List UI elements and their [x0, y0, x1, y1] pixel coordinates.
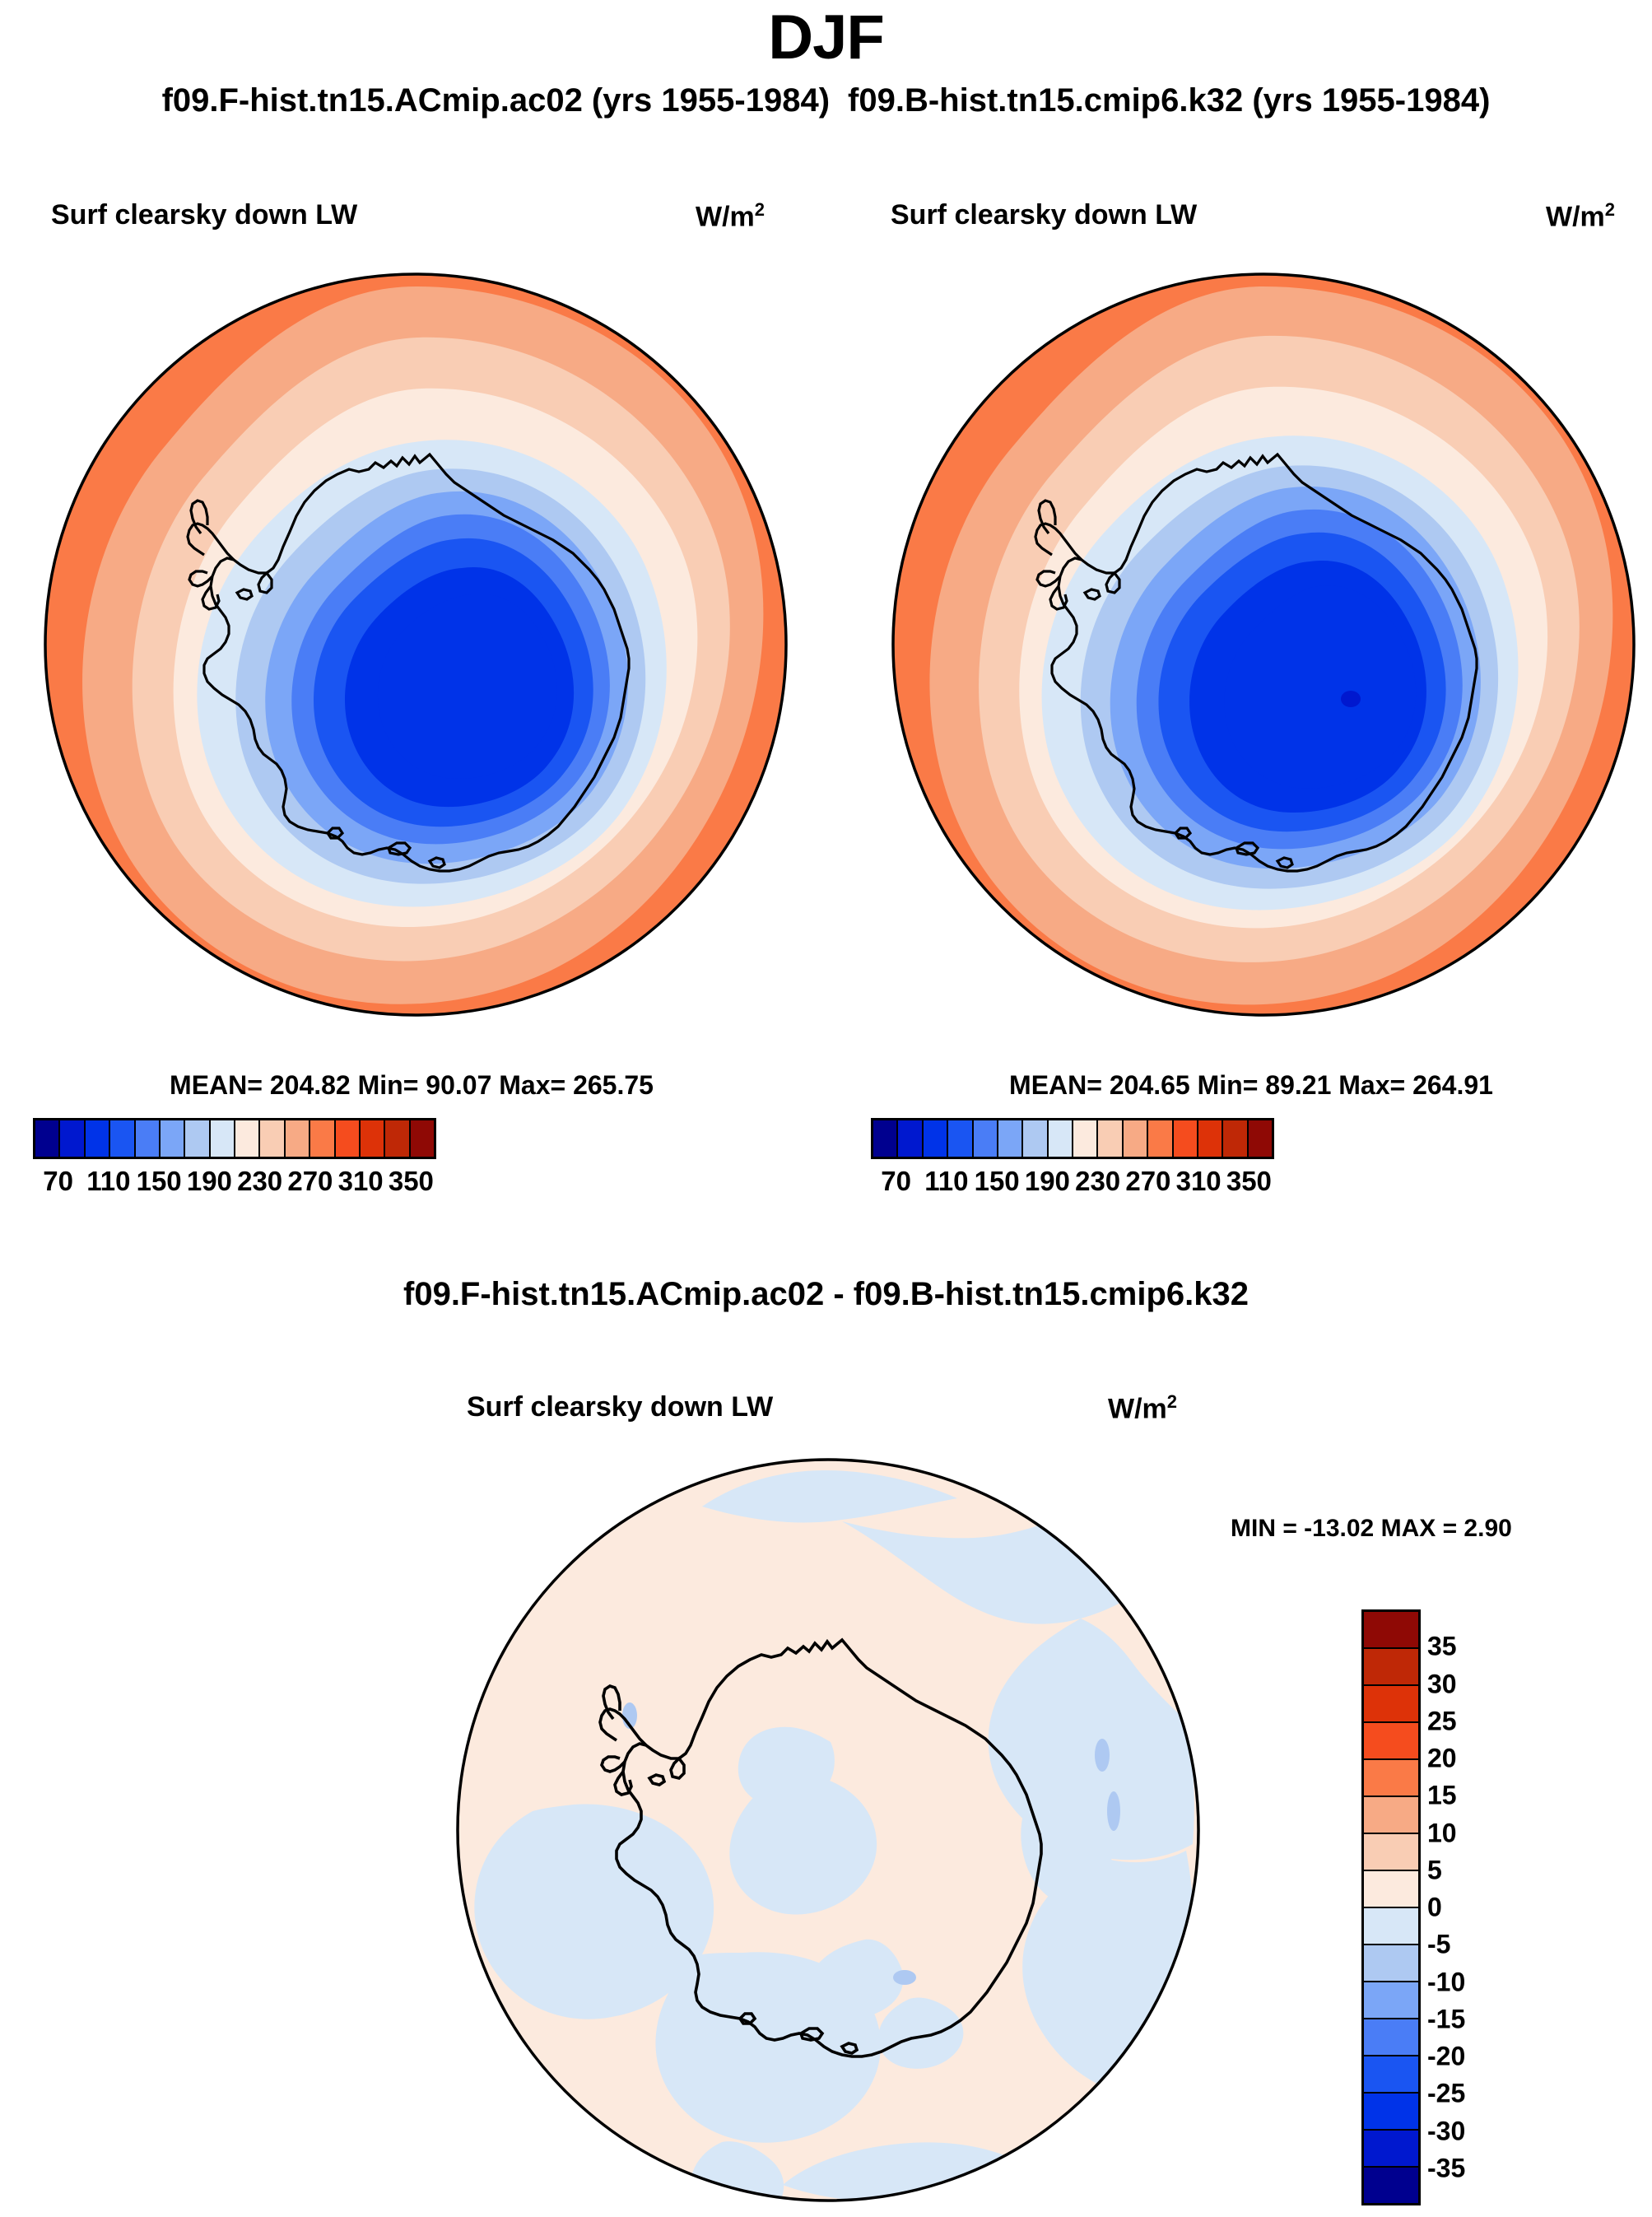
case-title-left: f09.F-hist.tn15.ACmip.ac02 (yrs 1955-198… [162, 82, 830, 119]
colorbar-left-swatches [33, 1118, 436, 1159]
colorbar-swatch [898, 1120, 923, 1157]
panel-right-units-exponent: 2 [1605, 199, 1615, 220]
colorbar-swatch [1124, 1120, 1148, 1157]
colorbar-swatch [1174, 1120, 1198, 1157]
panel-right-variable-label: Surf clearsky down LW [891, 199, 1197, 231]
colorbar-swatch [1364, 1834, 1418, 1871]
colorbar-swatch [1364, 2168, 1418, 2203]
colorbar-tick-label: 70 [43, 1166, 73, 1197]
colorbar-tick-label: 310 [338, 1166, 384, 1197]
colorbar-swatch [1023, 1120, 1048, 1157]
stats-right: MEAN= 204.65 Min= 89.21 Max= 264.91 [856, 1070, 1646, 1101]
contour-fills-right [891, 272, 1636, 1017]
colorbar-tick-label: 0 [1427, 1893, 1442, 1923]
colorbar-swatch [35, 1120, 60, 1157]
map-left-svg [43, 272, 789, 1018]
colorbar-swatch [361, 1120, 385, 1157]
contour-fills-diff [456, 1458, 1200, 2203]
colorbar-swatch [1364, 2056, 1418, 2094]
colorbar-difference: 35302520151050-5-10-15-20-25-30-35 [1361, 1609, 1421, 2205]
colorbar-tick-label: 270 [1125, 1166, 1170, 1197]
colorbar-tick-label: -25 [1427, 2079, 1465, 2109]
colorbar-swatch [1364, 2094, 1418, 2131]
colorbar-tick-label: 150 [137, 1166, 182, 1197]
colorbar-tick-label: 5 [1427, 1855, 1442, 1885]
colorbar-tick-label: 310 [1176, 1166, 1222, 1197]
map-right-svg [891, 272, 1636, 1018]
colorbar-tick-label: 350 [389, 1166, 434, 1197]
colorbar-swatch [1148, 1120, 1173, 1157]
colorbar-right-swatches [871, 1118, 1274, 1159]
map-left-panel [43, 272, 789, 1018]
map-diff-svg [455, 1457, 1201, 2203]
colorbar-swatch [385, 1120, 410, 1157]
colorbar-swatch [411, 1120, 434, 1157]
colorbar-swatch [1249, 1120, 1272, 1157]
colorbar-tick-label: 15 [1427, 1781, 1457, 1811]
colorbar-difference-labels: 35302520151050-5-10-15-20-25-30-35 [1427, 1609, 1526, 2205]
colorbar-swatch [1073, 1120, 1098, 1157]
panel-left-units: W/m2 [696, 199, 765, 233]
panel-diff-units-exponent: 2 [1167, 1391, 1177, 1412]
colorbar-tick-label: 30 [1427, 1669, 1457, 1699]
colorbar-swatch [1364, 2019, 1418, 2056]
colorbar-tick-label: 270 [287, 1166, 333, 1197]
colorbar-tick-label: 110 [86, 1166, 130, 1197]
colorbar-swatch [310, 1120, 335, 1157]
colorbar-tick-label: 190 [1025, 1166, 1070, 1197]
colorbar-tick-label: -5 [1427, 1930, 1450, 1960]
colorbar-swatch [948, 1120, 973, 1157]
colorbar-swatch [1364, 1612, 1418, 1649]
colorbar-swatch [924, 1120, 948, 1157]
colorbar-difference-swatches [1361, 1609, 1421, 2205]
colorbar-swatch [185, 1120, 210, 1157]
colorbar-swatch [286, 1120, 310, 1157]
panel-diff-units: W/m2 [1108, 1391, 1177, 1425]
colorbar-tick-label: -20 [1427, 2042, 1465, 2072]
colorbar-swatch [136, 1120, 161, 1157]
colorbar-swatch [1364, 1649, 1418, 1686]
colorbar-swatch [1364, 2131, 1418, 2168]
colorbar-tick-label: 110 [924, 1166, 968, 1197]
colorbar-swatch [161, 1120, 185, 1157]
colorbar-swatch [1364, 1723, 1418, 1760]
colorbar-tick-label: 35 [1427, 1632, 1457, 1662]
colorbar-left-labels: 70110150190230270310350 [33, 1166, 436, 1202]
colorbar-swatch [1364, 1797, 1418, 1834]
colorbar-swatch [1364, 1686, 1418, 1723]
colorbar-swatch [211, 1120, 235, 1157]
colorbar-swatch [86, 1120, 110, 1157]
case-titles: f09.F-hist.tn15.ACmip.ac02 (yrs 1955-198… [0, 82, 1652, 119]
colorbar-right-labels: 70110150190230270310350 [871, 1166, 1274, 1202]
colorbar-swatch [1364, 1760, 1418, 1797]
stats-left: MEAN= 204.82 Min= 90.07 Max= 265.75 [16, 1070, 807, 1101]
colorbar-swatch [974, 1120, 998, 1157]
colorbar-right: 70110150190230270310350 [871, 1118, 1274, 1202]
colorbar-swatch [1098, 1120, 1123, 1157]
colorbar-swatch [1364, 1982, 1418, 2019]
colorbar-swatch [235, 1120, 260, 1157]
colorbar-swatch [336, 1120, 361, 1157]
colorbar-swatch [110, 1120, 135, 1157]
case-title-right: f09.B-hist.tn15.cmip6.k32 (yrs 1955-1984… [848, 82, 1490, 119]
panel-left-units-text: W/m [696, 201, 755, 232]
colorbar-swatch [60, 1120, 85, 1157]
panel-diff-units-text: W/m [1108, 1393, 1167, 1424]
colorbar-tick-label: -30 [1427, 2116, 1465, 2146]
colorbar-tick-label: 25 [1427, 1706, 1457, 1736]
colorbar-tick-label: 150 [975, 1166, 1020, 1197]
colorbar-tick-label: 10 [1427, 1818, 1457, 1848]
colorbar-tick-label: 230 [237, 1166, 282, 1197]
colorbar-swatch [1364, 1871, 1418, 1908]
colorbar-tick-label: 70 [881, 1166, 911, 1197]
map-right-panel [891, 272, 1636, 1018]
colorbar-swatch [873, 1120, 898, 1157]
difference-minmax: MIN = -13.02 MAX = 2.90 [1231, 1515, 1512, 1543]
page-title: DJF [0, 2, 1652, 73]
colorbar-swatch [1364, 1945, 1418, 1982]
colorbar-tick-label: 350 [1226, 1166, 1272, 1197]
map-difference-panel [455, 1457, 1201, 2203]
contour-fills-left [44, 272, 788, 1017]
colorbar-tick-label: 20 [1427, 1744, 1457, 1774]
colorbar-swatch [1223, 1120, 1248, 1157]
colorbar-swatch [998, 1120, 1023, 1157]
panel-left-units-exponent: 2 [755, 199, 765, 220]
colorbar-swatch [1198, 1120, 1223, 1157]
difference-title: f09.F-hist.tn15.ACmip.ac02 - f09.B-hist.… [0, 1276, 1652, 1313]
panel-right-units-text: W/m [1546, 201, 1605, 232]
colorbar-swatch [260, 1120, 285, 1157]
panel-left-variable-label: Surf clearsky down LW [51, 199, 357, 231]
colorbar-tick-label: -15 [1427, 2004, 1465, 2034]
panel-right-units: W/m2 [1546, 199, 1615, 233]
colorbar-tick-label: 190 [187, 1166, 232, 1197]
colorbar-left: 70110150190230270310350 [33, 1118, 436, 1202]
panel-diff-variable-label: Surf clearsky down LW [467, 1391, 773, 1423]
colorbar-tick-label: -35 [1427, 2153, 1465, 2183]
colorbar-swatch [1364, 1908, 1418, 1945]
colorbar-tick-label: 230 [1075, 1166, 1120, 1197]
colorbar-tick-label: -10 [1427, 1967, 1465, 1997]
colorbar-swatch [1049, 1120, 1073, 1157]
